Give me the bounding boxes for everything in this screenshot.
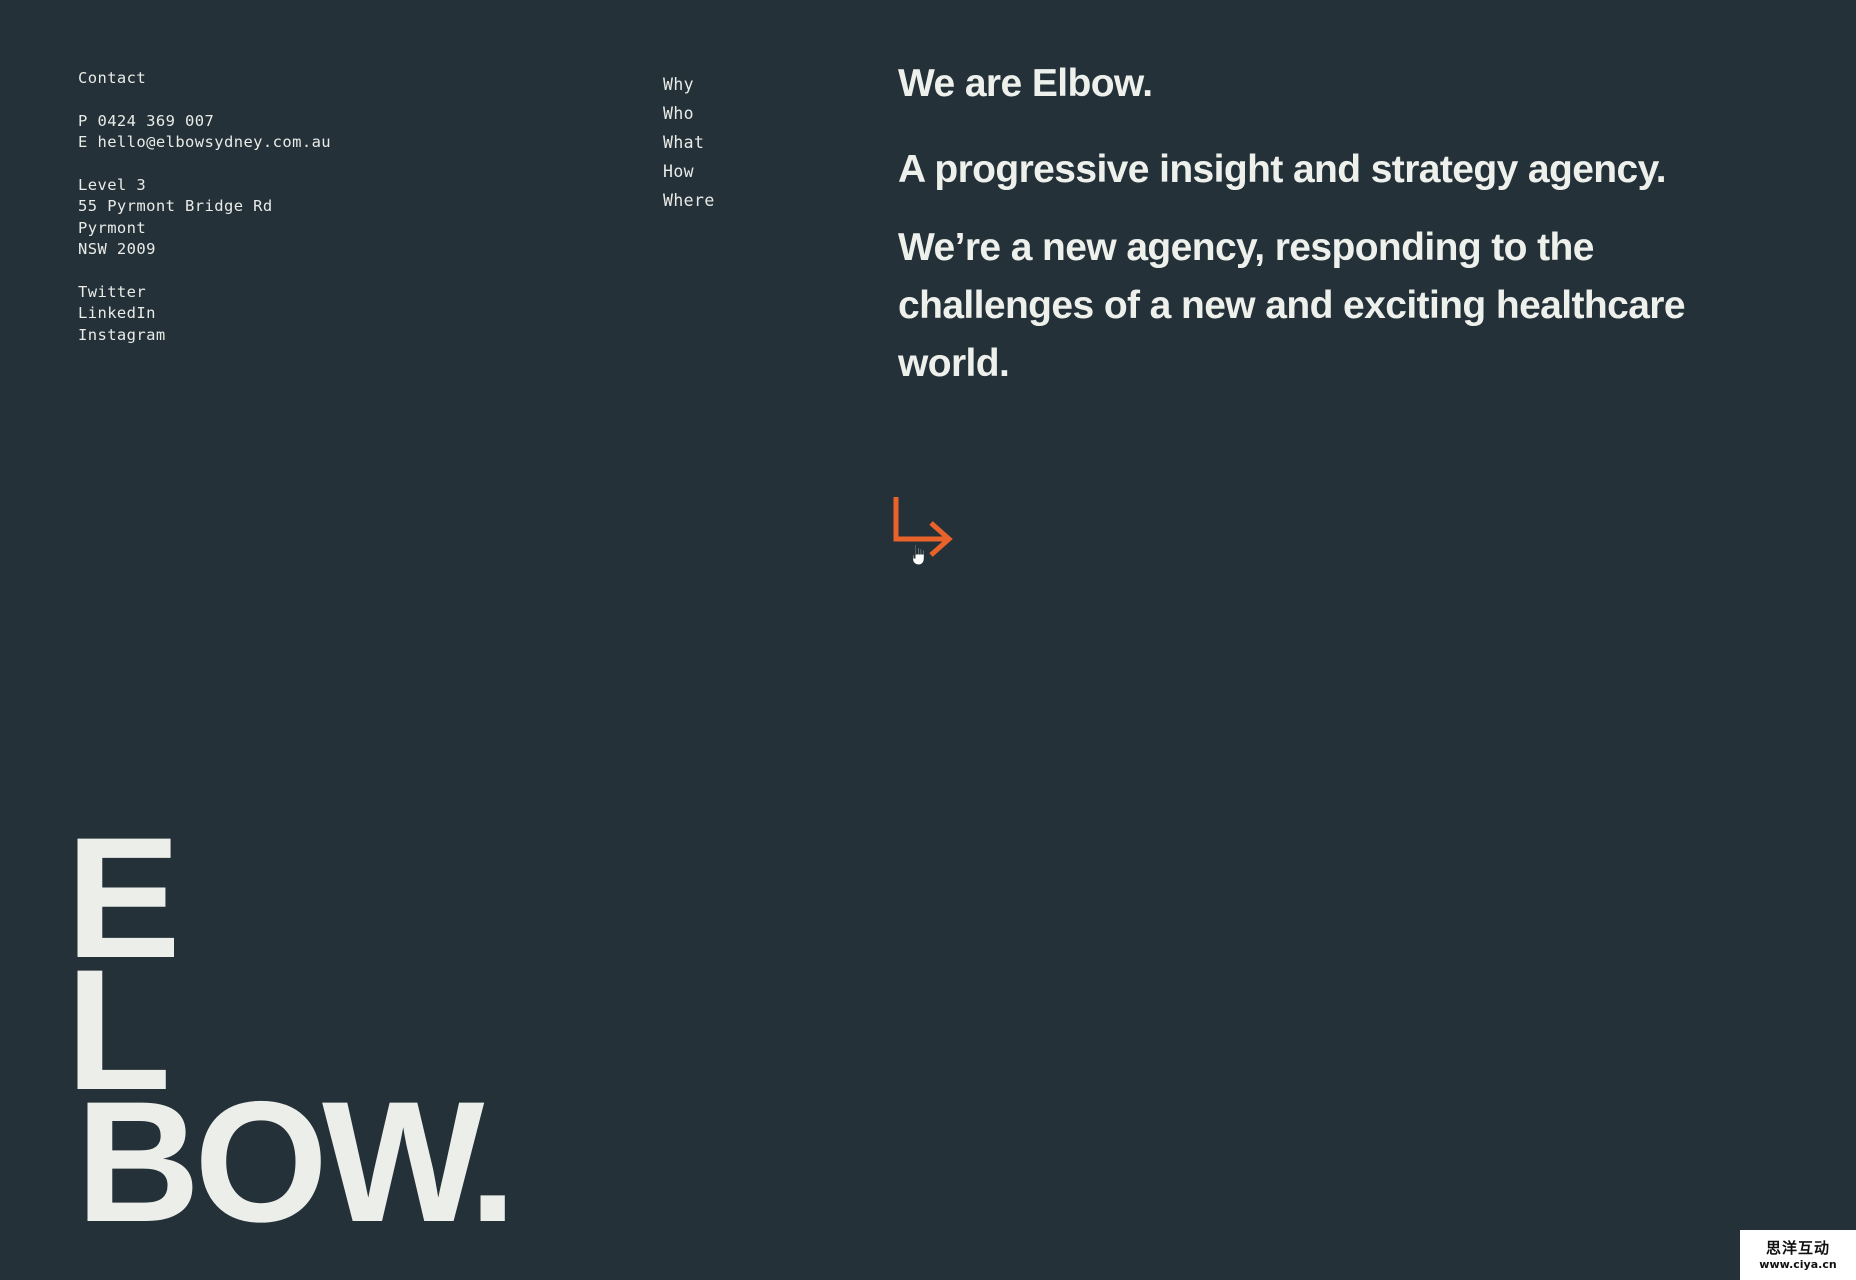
address-line-3: Pyrmont bbox=[78, 218, 331, 240]
contact-block: Contact P 0424 369 007 E hello@elbowsydn… bbox=[78, 68, 331, 346]
intro-copy: We are Elbow. A progressive insight and … bbox=[898, 60, 1698, 393]
nav-item-who[interactable]: Who bbox=[663, 99, 715, 128]
contact-phone[interactable]: P 0424 369 007 bbox=[78, 111, 331, 133]
nav-item-what[interactable]: What bbox=[663, 128, 715, 157]
page-root: Contact P 0424 369 007 E hello@elbowsydn… bbox=[0, 0, 1856, 1280]
social-link-linkedin[interactable]: LinkedIn bbox=[78, 303, 331, 325]
social-links-group: Twitter LinkedIn Instagram bbox=[78, 282, 331, 347]
scroll-down-cta[interactable] bbox=[893, 495, 963, 555]
elbow-wordmark: E L BOW. bbox=[66, 832, 511, 1228]
nav-item-where[interactable]: Where bbox=[663, 186, 715, 215]
address-line-1: Level 3 bbox=[78, 175, 331, 197]
intro-paragraph: We’re a new agency, responding to the ch… bbox=[898, 219, 1698, 393]
watermark-badge: 思洋互动 www.ciya.cn bbox=[1740, 1230, 1856, 1280]
address-line-4: NSW 2009 bbox=[78, 239, 331, 261]
contact-address-group: Level 3 55 Pyrmont Bridge Rd Pyrmont NSW… bbox=[78, 175, 331, 261]
social-link-instagram[interactable]: Instagram bbox=[78, 325, 331, 347]
contact-heading: Contact bbox=[78, 68, 331, 90]
watermark-name: 思洋互动 bbox=[1766, 1240, 1830, 1257]
headline-secondary: A progressive insight and strategy agenc… bbox=[898, 141, 1698, 199]
contact-email[interactable]: E hello@elbowsydney.com.au bbox=[78, 132, 331, 154]
nav-item-why[interactable]: Why bbox=[663, 70, 715, 99]
address-line-2: 55 Pyrmont Bridge Rd bbox=[78, 196, 331, 218]
arrow-turn-right-icon bbox=[893, 495, 963, 555]
nav-item-how[interactable]: How bbox=[663, 157, 715, 186]
contact-heading-group: Contact bbox=[78, 68, 331, 90]
watermark-url: www.ciya.cn bbox=[1759, 1258, 1836, 1271]
headline-primary: We are Elbow. bbox=[898, 60, 1698, 108]
main-navigation: Why Who What How Where bbox=[663, 70, 715, 215]
contact-details-group: P 0424 369 007 E hello@elbowsydney.com.a… bbox=[78, 111, 331, 154]
wordmark-line-3: BOW. bbox=[76, 1096, 511, 1228]
social-link-twitter[interactable]: Twitter bbox=[78, 282, 331, 304]
